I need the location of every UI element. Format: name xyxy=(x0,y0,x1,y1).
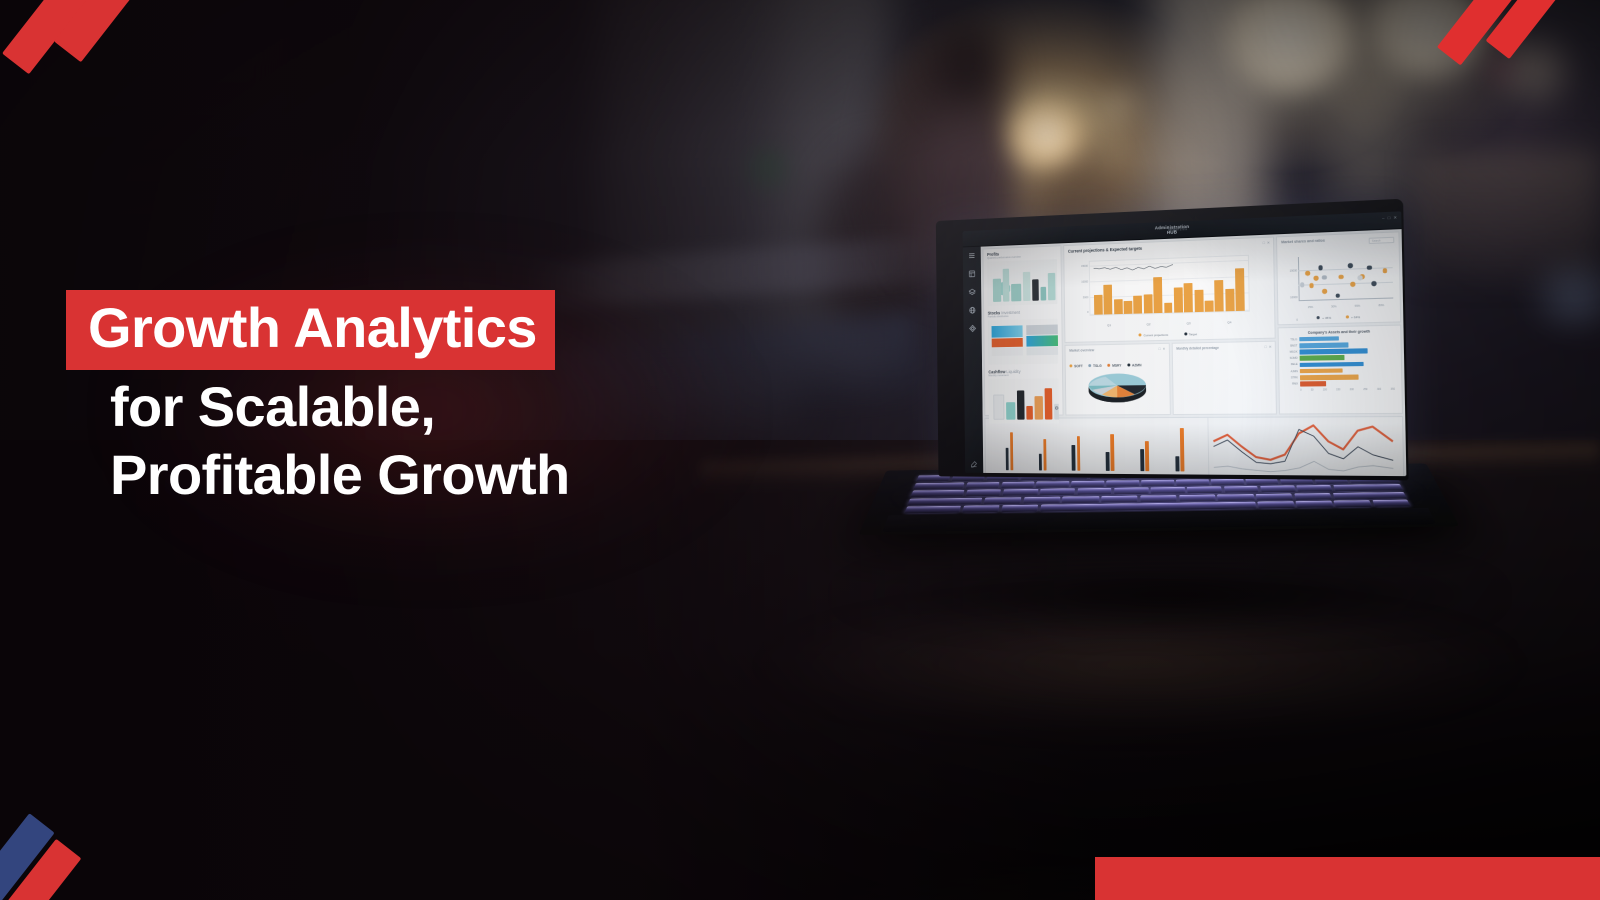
laptop-shadow xyxy=(840,560,1500,630)
market-shares-panel: Market shares and ratios Search 15000 10… xyxy=(1276,231,1401,325)
bar-label: MSOX xyxy=(1281,351,1298,354)
window-controls[interactable]: – □ ✕ xyxy=(1382,216,1397,221)
key xyxy=(1333,484,1403,491)
key xyxy=(1077,488,1112,495)
bar-pair xyxy=(1038,439,1046,470)
bokeh-light-main xyxy=(1010,105,1082,163)
y-tick: 10000 xyxy=(1067,281,1088,285)
x-tick: 80% xyxy=(1379,304,1385,307)
scatter-point xyxy=(1300,283,1305,288)
center-column: Current projections & Expected targets □… xyxy=(1063,236,1277,415)
summary-cards-panel: Profits Quarterly performance overview xyxy=(983,245,1064,416)
x-tick: Q3 xyxy=(1168,320,1208,325)
bar-label: DELE xyxy=(1281,363,1298,366)
scatter-point xyxy=(1383,268,1388,273)
x-tick: 50 xyxy=(1311,388,1314,391)
x-tick: 30% xyxy=(1331,305,1336,308)
bar xyxy=(1174,287,1183,312)
projections-tools[interactable]: □ ✕ xyxy=(1263,241,1270,245)
key xyxy=(1001,481,1035,488)
legend-label: Current projections xyxy=(1143,332,1168,337)
x-tick: 300 xyxy=(1377,388,1381,391)
scatter-legend: + 45% + 64% xyxy=(1278,314,1400,321)
bar-pair xyxy=(1106,434,1115,471)
headline-line-3: Profitable Growth xyxy=(88,438,808,506)
key xyxy=(1106,480,1138,487)
key xyxy=(1101,496,1137,503)
bar xyxy=(1164,303,1173,313)
table-row: STRK xyxy=(1281,374,1394,380)
assets-bars: TSLG BNST MSOX SOMD DELE xyxy=(1279,335,1402,387)
shelf-blur xyxy=(1415,150,1600,280)
key xyxy=(1294,493,1332,500)
key xyxy=(1142,480,1174,487)
key xyxy=(1003,489,1038,496)
headline-highlight: Growth Analytics xyxy=(66,290,555,370)
close-icon[interactable]: ✕ xyxy=(1269,345,1272,349)
scatter-point xyxy=(1350,282,1355,287)
bar-label: RMX xyxy=(1282,382,1299,385)
legend-item: Current projections xyxy=(1139,332,1169,337)
x-tick: 100 xyxy=(1323,388,1327,391)
key xyxy=(1001,505,1038,512)
bar-pair xyxy=(1140,441,1149,471)
bar-pair xyxy=(1005,432,1013,470)
dashboard-bottom-row xyxy=(984,416,1404,476)
decor-bottom-right-bar xyxy=(1095,857,1600,900)
legend-item: + 64% xyxy=(1346,315,1360,320)
bar xyxy=(1225,288,1234,310)
key xyxy=(1114,488,1148,495)
market-overview-panel: Market overview □ ✕ SOFT xyxy=(1065,342,1171,415)
laptop-screen: Administration HUB version 2.0.1 – □ ✕ xyxy=(963,211,1407,476)
edit-icon[interactable] xyxy=(970,459,979,469)
maximize-button[interactable]: □ xyxy=(1388,216,1391,220)
person-head-1 xyxy=(935,20,1005,110)
bar-label: BNST xyxy=(1281,344,1297,347)
y-tick: 5000 xyxy=(1068,297,1089,301)
scatter-point xyxy=(1371,281,1376,286)
key xyxy=(1256,493,1293,500)
bar-label: TSLG xyxy=(1281,338,1297,341)
close-button[interactable]: ✕ xyxy=(1393,216,1397,220)
key xyxy=(1224,486,1259,493)
key xyxy=(1140,495,1176,502)
scatter-point xyxy=(1339,274,1344,279)
bar-label: AJMN xyxy=(1281,370,1298,373)
projections-legend: Current projections Target xyxy=(1065,330,1274,339)
market-pie-chart xyxy=(1084,364,1150,409)
key xyxy=(1062,496,1099,503)
scatter-point xyxy=(1322,289,1327,294)
key xyxy=(1023,497,1060,504)
plant-blur xyxy=(740,140,796,196)
key xyxy=(1211,479,1244,486)
comparison-bars-chart xyxy=(985,418,1206,475)
key xyxy=(1372,500,1410,507)
key xyxy=(1040,489,1075,496)
table-row: SOMD xyxy=(1281,354,1394,361)
scatter-point xyxy=(1318,265,1323,270)
hamburger-icon[interactable] xyxy=(967,251,976,261)
profits-thumbnail xyxy=(987,259,1057,306)
scatter-point xyxy=(1305,271,1310,276)
scatter-point xyxy=(1367,265,1372,270)
key xyxy=(905,506,962,514)
right-column: Market shares and ratios Search 15000 10… xyxy=(1276,231,1403,414)
bar-label: STRK xyxy=(1281,376,1298,379)
key xyxy=(1179,495,1216,502)
minimize-button[interactable]: – xyxy=(1382,216,1384,220)
key xyxy=(1187,487,1222,494)
dashboard-top-row: Profits Quarterly performance overview xyxy=(983,231,1404,416)
profits-card[interactable]: Profits Quarterly performance overview xyxy=(983,246,1061,308)
x-tick: Q2 xyxy=(1129,321,1169,326)
bokeh-light-small xyxy=(1100,85,1140,121)
key xyxy=(1036,481,1069,488)
key xyxy=(965,482,999,489)
expand-icon[interactable]: □ xyxy=(1263,241,1265,245)
key xyxy=(911,490,965,497)
key xyxy=(984,497,1022,504)
key xyxy=(1217,494,1254,501)
scatter-plot xyxy=(1298,254,1393,301)
legend-label: Target xyxy=(1189,332,1197,336)
table-row: DELE xyxy=(1281,361,1394,367)
expand-icon[interactable]: □ xyxy=(1264,345,1266,349)
assets-growth-panel: Company's Assets and their growth TSLG B… xyxy=(1278,324,1403,414)
monthly-detail-panel: Monthly detailed percentage □ ✕ xyxy=(1171,340,1277,415)
projections-chart: 15000 10000 5000 0 xyxy=(1089,255,1250,316)
bar xyxy=(1094,294,1103,314)
search-input[interactable]: Search xyxy=(1369,237,1395,244)
notes-tools[interactable]: □ ✕ xyxy=(1264,345,1271,349)
sidebar-rail xyxy=(963,247,984,473)
x-tick: 15% xyxy=(1308,306,1313,309)
stocks-card[interactable]: Stocks Investment Portfolio distribution xyxy=(984,306,1062,367)
legend-item: + 45% xyxy=(1317,316,1331,320)
dashboard-icon[interactable] xyxy=(967,269,976,279)
bar xyxy=(1215,280,1224,311)
x-tick: 0 xyxy=(1300,388,1301,391)
app-version: version 2.0.1 xyxy=(1168,227,1187,232)
bar-pair xyxy=(1072,436,1081,471)
headline-line-2: for Scalable, xyxy=(88,370,808,438)
projections-x-axis: Q1 Q2 Q3 Q4 xyxy=(1090,319,1250,327)
ticker-item: SOFT xyxy=(1069,364,1082,368)
x-tick: 200 xyxy=(1350,388,1354,391)
cashflow-card[interactable]: Cashflow Liquidity Monthly movement xyxy=(985,366,1063,426)
x-tick: Q4 xyxy=(1209,319,1250,324)
x-tick: 150 xyxy=(1336,388,1340,391)
close-icon[interactable]: ✕ xyxy=(1267,241,1270,245)
bar xyxy=(1124,301,1133,314)
scatter-point xyxy=(1335,293,1340,298)
key xyxy=(1260,486,1295,493)
y-tick: 10000 xyxy=(1280,296,1298,300)
bar xyxy=(1235,268,1245,311)
hero-headline: Growth Analytics for Scalable, Profitabl… xyxy=(88,290,808,506)
scatter-point xyxy=(1309,283,1314,288)
diamond-icon[interactable] xyxy=(968,324,977,334)
legend-label: + 45% xyxy=(1322,316,1331,320)
laptop-lid: Administration HUB version 2.0.1 – □ ✕ xyxy=(936,199,1409,481)
bar xyxy=(1104,285,1113,314)
table-row: MSOX xyxy=(1281,348,1394,355)
bar-pair xyxy=(1175,428,1184,471)
projection-bars xyxy=(1094,262,1245,314)
laptop: Administration HUB version 2.0.1 – □ ✕ xyxy=(900,205,1420,655)
app-body: Profits Quarterly performance overview xyxy=(963,229,1407,476)
key xyxy=(1176,479,1209,486)
y-tick: 0 xyxy=(1068,311,1089,314)
bar xyxy=(1205,301,1214,312)
bar-label: SOMD xyxy=(1281,357,1298,360)
projections-panel: Current projections & Expected targets □… xyxy=(1063,236,1275,342)
scatter-point xyxy=(1348,263,1353,268)
bar xyxy=(1134,295,1143,313)
headline-line-1: Growth Analytics xyxy=(88,290,808,370)
key xyxy=(908,498,983,506)
scatter-point xyxy=(1358,275,1363,280)
cashflow-thumbnail xyxy=(989,378,1059,423)
scatter-point xyxy=(1314,276,1319,281)
key xyxy=(1333,492,1407,499)
y-tick: 15000 xyxy=(1067,265,1088,269)
globe-icon[interactable] xyxy=(968,305,977,315)
key xyxy=(1334,500,1372,507)
scatter-point xyxy=(1322,275,1327,280)
layers-icon[interactable] xyxy=(968,287,977,297)
bar xyxy=(1194,289,1203,311)
settings-gear-icon[interactable]: ⚙ xyxy=(1055,406,1059,412)
bar xyxy=(1184,283,1193,312)
stocks-thumbnail xyxy=(988,319,1058,365)
notes-title: Monthly detailed percentage xyxy=(1172,341,1275,352)
x-tick: Q1 xyxy=(1090,322,1129,327)
scatter-x-axis: 15% 30% 55% 80% xyxy=(1299,304,1394,310)
x-tick: 250 xyxy=(1363,388,1367,391)
close-icon[interactable]: ✕ xyxy=(1163,347,1166,351)
key xyxy=(965,490,1001,497)
key xyxy=(1151,487,1185,494)
ticker-label: SOFT xyxy=(1074,364,1083,368)
dashboard-workspace: Profits Quarterly performance overview xyxy=(981,229,1407,476)
key xyxy=(1071,481,1104,488)
key xyxy=(1296,501,1334,508)
key xyxy=(1297,485,1333,492)
x-tick: 55% xyxy=(1355,304,1361,307)
key xyxy=(1258,501,1295,508)
key xyxy=(962,506,1000,513)
bar xyxy=(1153,277,1162,312)
trend-lines-chart xyxy=(1207,417,1403,476)
bar xyxy=(1114,299,1123,313)
expand-icon[interactable]: □ xyxy=(1158,347,1160,351)
bar xyxy=(1144,294,1153,313)
market-tools[interactable]: □ ✕ xyxy=(1158,347,1165,351)
y-tick: 15000 xyxy=(1280,269,1297,273)
key xyxy=(914,482,965,489)
center-bottom-row: Market overview □ ✕ SOFT xyxy=(1065,340,1277,415)
bokeh-light-pink xyxy=(1486,55,1516,81)
legend-label: + 64% xyxy=(1351,315,1360,319)
x-tick: 350 xyxy=(1391,387,1395,390)
table-row: AJMN xyxy=(1281,367,1394,373)
legend-item: Target xyxy=(1184,332,1197,336)
